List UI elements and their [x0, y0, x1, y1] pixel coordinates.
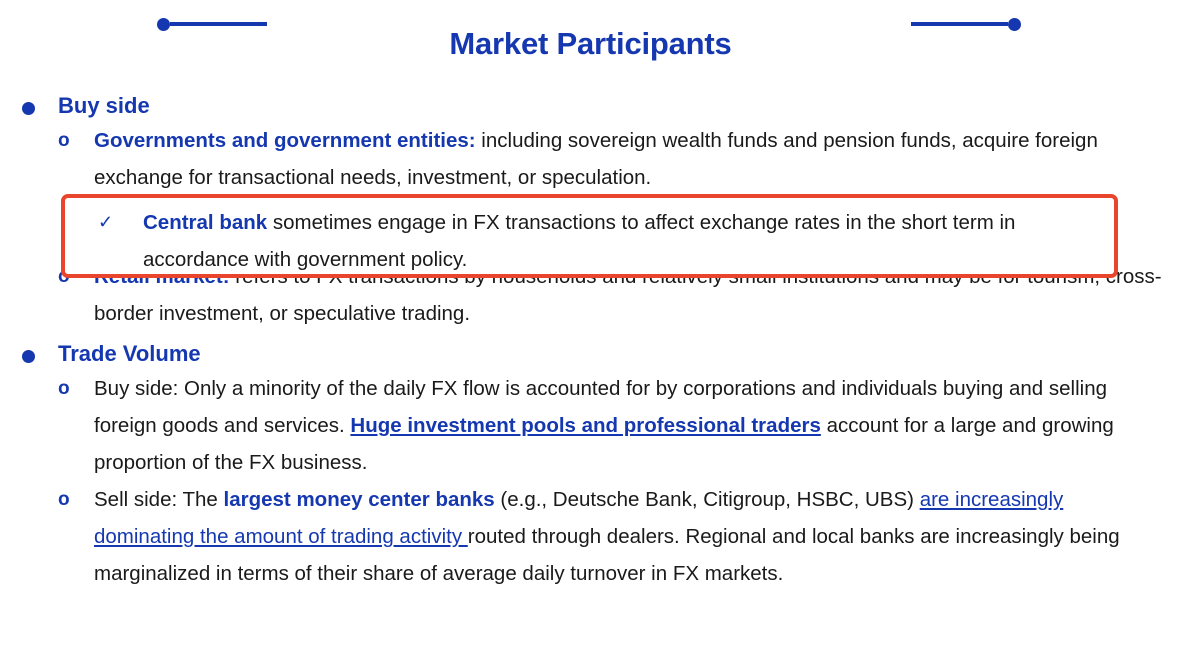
line-icon: [170, 22, 267, 26]
checkmark-icon: ✓: [98, 204, 143, 241]
bullet-circle-icon: o: [58, 370, 94, 407]
emphasis-lead: Central bank: [143, 211, 267, 234]
list-item-text: Sell side: The largest money center bank…: [94, 481, 1162, 592]
heading-label: Buy side: [58, 92, 150, 120]
list-item-text: Central bank sometimes engage in FX tran…: [143, 204, 1114, 278]
list-item-central-bank: ✓ Central bank sometimes engage in FX tr…: [65, 204, 1114, 278]
section-heading-trade-volume: Trade Volume: [0, 340, 1181, 368]
line-icon: [911, 22, 1008, 26]
page-title: Market Participants: [435, 26, 745, 62]
bullet-disc-icon: [22, 92, 58, 120]
title-decoration-left: [157, 17, 267, 31]
bullet-disc-icon: [22, 340, 58, 368]
item-body-part2: (e.g., Deutsche Bank, Citigroup, HSBC, U…: [495, 488, 920, 511]
list-item-text: Governments and government entities: inc…: [94, 122, 1162, 196]
title-decoration-right: [911, 17, 1021, 31]
slide-body: Buy side o Governments and government en…: [0, 92, 1181, 592]
dot-icon: [157, 18, 170, 31]
list-item-governments: o Governments and government entities: i…: [0, 122, 1181, 196]
list-item-buy-side-volume: o Buy side: Only a minority of the daily…: [0, 370, 1181, 481]
section-heading-buy-side: Buy side: [0, 92, 1181, 120]
item-body: sometimes engage in FX transactions to a…: [143, 211, 1015, 271]
list-item-sell-side-volume: o Sell side: The largest money center ba…: [0, 481, 1181, 592]
highlight-callout-box: ✓ Central bank sometimes engage in FX tr…: [61, 194, 1118, 278]
list-item-text: Buy side: Only a minority of the daily F…: [94, 370, 1162, 481]
dot-icon: [1008, 18, 1021, 31]
heading-label: Trade Volume: [58, 340, 201, 368]
bullet-circle-icon: o: [58, 481, 94, 518]
emphasis-lead: Governments and government entities:: [94, 129, 476, 152]
bullet-circle-icon: o: [58, 122, 94, 159]
emphasis-banks: largest money center banks: [224, 488, 495, 511]
item-body-part1: Sell side: The: [94, 488, 224, 511]
emphasis-underlined: Huge investment pools and professional t…: [350, 414, 820, 437]
